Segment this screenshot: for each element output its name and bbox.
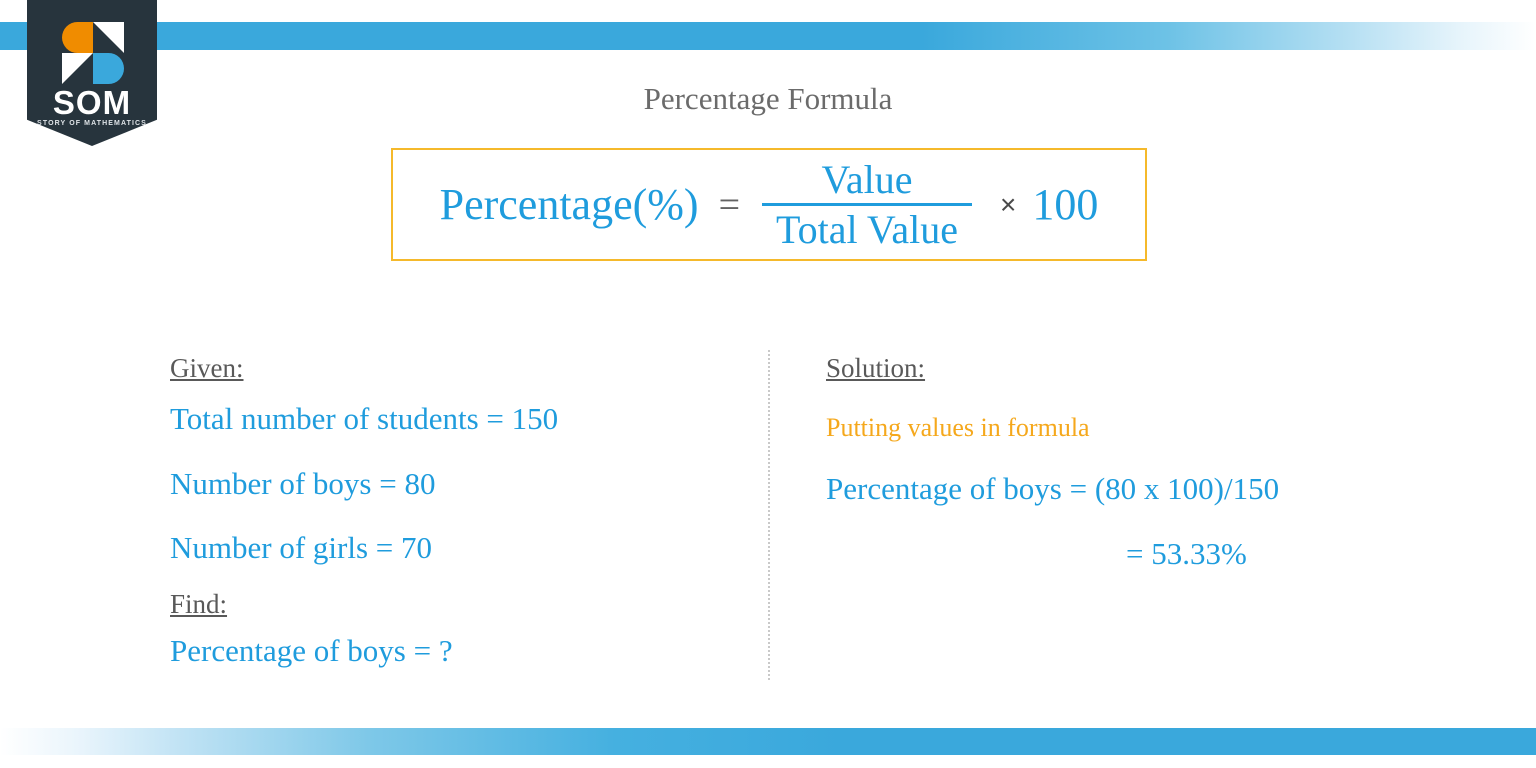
solution-heading: Solution:	[826, 352, 1486, 386]
find-line-question: Percentage of boys = ?	[170, 632, 740, 671]
formula-left-side: Percentage(%)	[440, 183, 699, 227]
solution-note: Putting values in formula	[826, 412, 1486, 445]
solution-calculation: Percentage of boys = (80 x 100)/150	[826, 470, 1486, 509]
spacer	[170, 503, 740, 529]
logo-quarter-top-right	[93, 22, 124, 53]
som-logo: SOM STORY OF MATHEMATICS	[27, 0, 157, 146]
formula-multiply-sign: ×	[1000, 191, 1016, 219]
given-line-boys: Number of boys = 80	[170, 465, 740, 504]
solution-column: Solution: Putting values in formula Perc…	[826, 352, 1486, 574]
formula-multiplier: 100	[1032, 183, 1098, 227]
find-heading: Find:	[170, 588, 740, 622]
logo-quarter-top-left	[62, 22, 93, 53]
given-line-girls: Number of girls = 70	[170, 529, 740, 568]
spacer	[170, 386, 740, 400]
given-column: Given: Total number of students = 150 Nu…	[170, 352, 740, 671]
formula-equals-sign: =	[719, 186, 740, 224]
page-title: Percentage Formula	[0, 80, 1536, 117]
formula-fraction-bar	[762, 203, 972, 206]
logo-s-mark-icon	[62, 22, 124, 84]
formula-expression: Percentage(%) = Value Total Value × 100	[440, 158, 1099, 251]
formula-box: Percentage(%) = Value Total Value × 100	[391, 148, 1147, 261]
formula-numerator: Value	[813, 158, 920, 201]
column-divider	[768, 350, 770, 680]
formula-denominator: Total Value	[768, 208, 966, 251]
formula-fraction: Value Total Value	[762, 158, 972, 251]
spacer	[826, 509, 1486, 535]
spacer	[170, 439, 740, 465]
solution-result: = 53.33%	[826, 535, 1486, 574]
given-heading: Given:	[170, 352, 740, 386]
spacer	[826, 386, 1486, 412]
bottom-accent-bar	[0, 728, 1536, 755]
spacer	[170, 622, 740, 632]
logo-tagline: STORY OF MATHEMATICS	[27, 120, 157, 127]
given-line-total-students: Total number of students = 150	[170, 400, 740, 439]
top-accent-bar	[0, 22, 1536, 50]
spacer	[170, 568, 740, 588]
spacer	[826, 444, 1486, 470]
